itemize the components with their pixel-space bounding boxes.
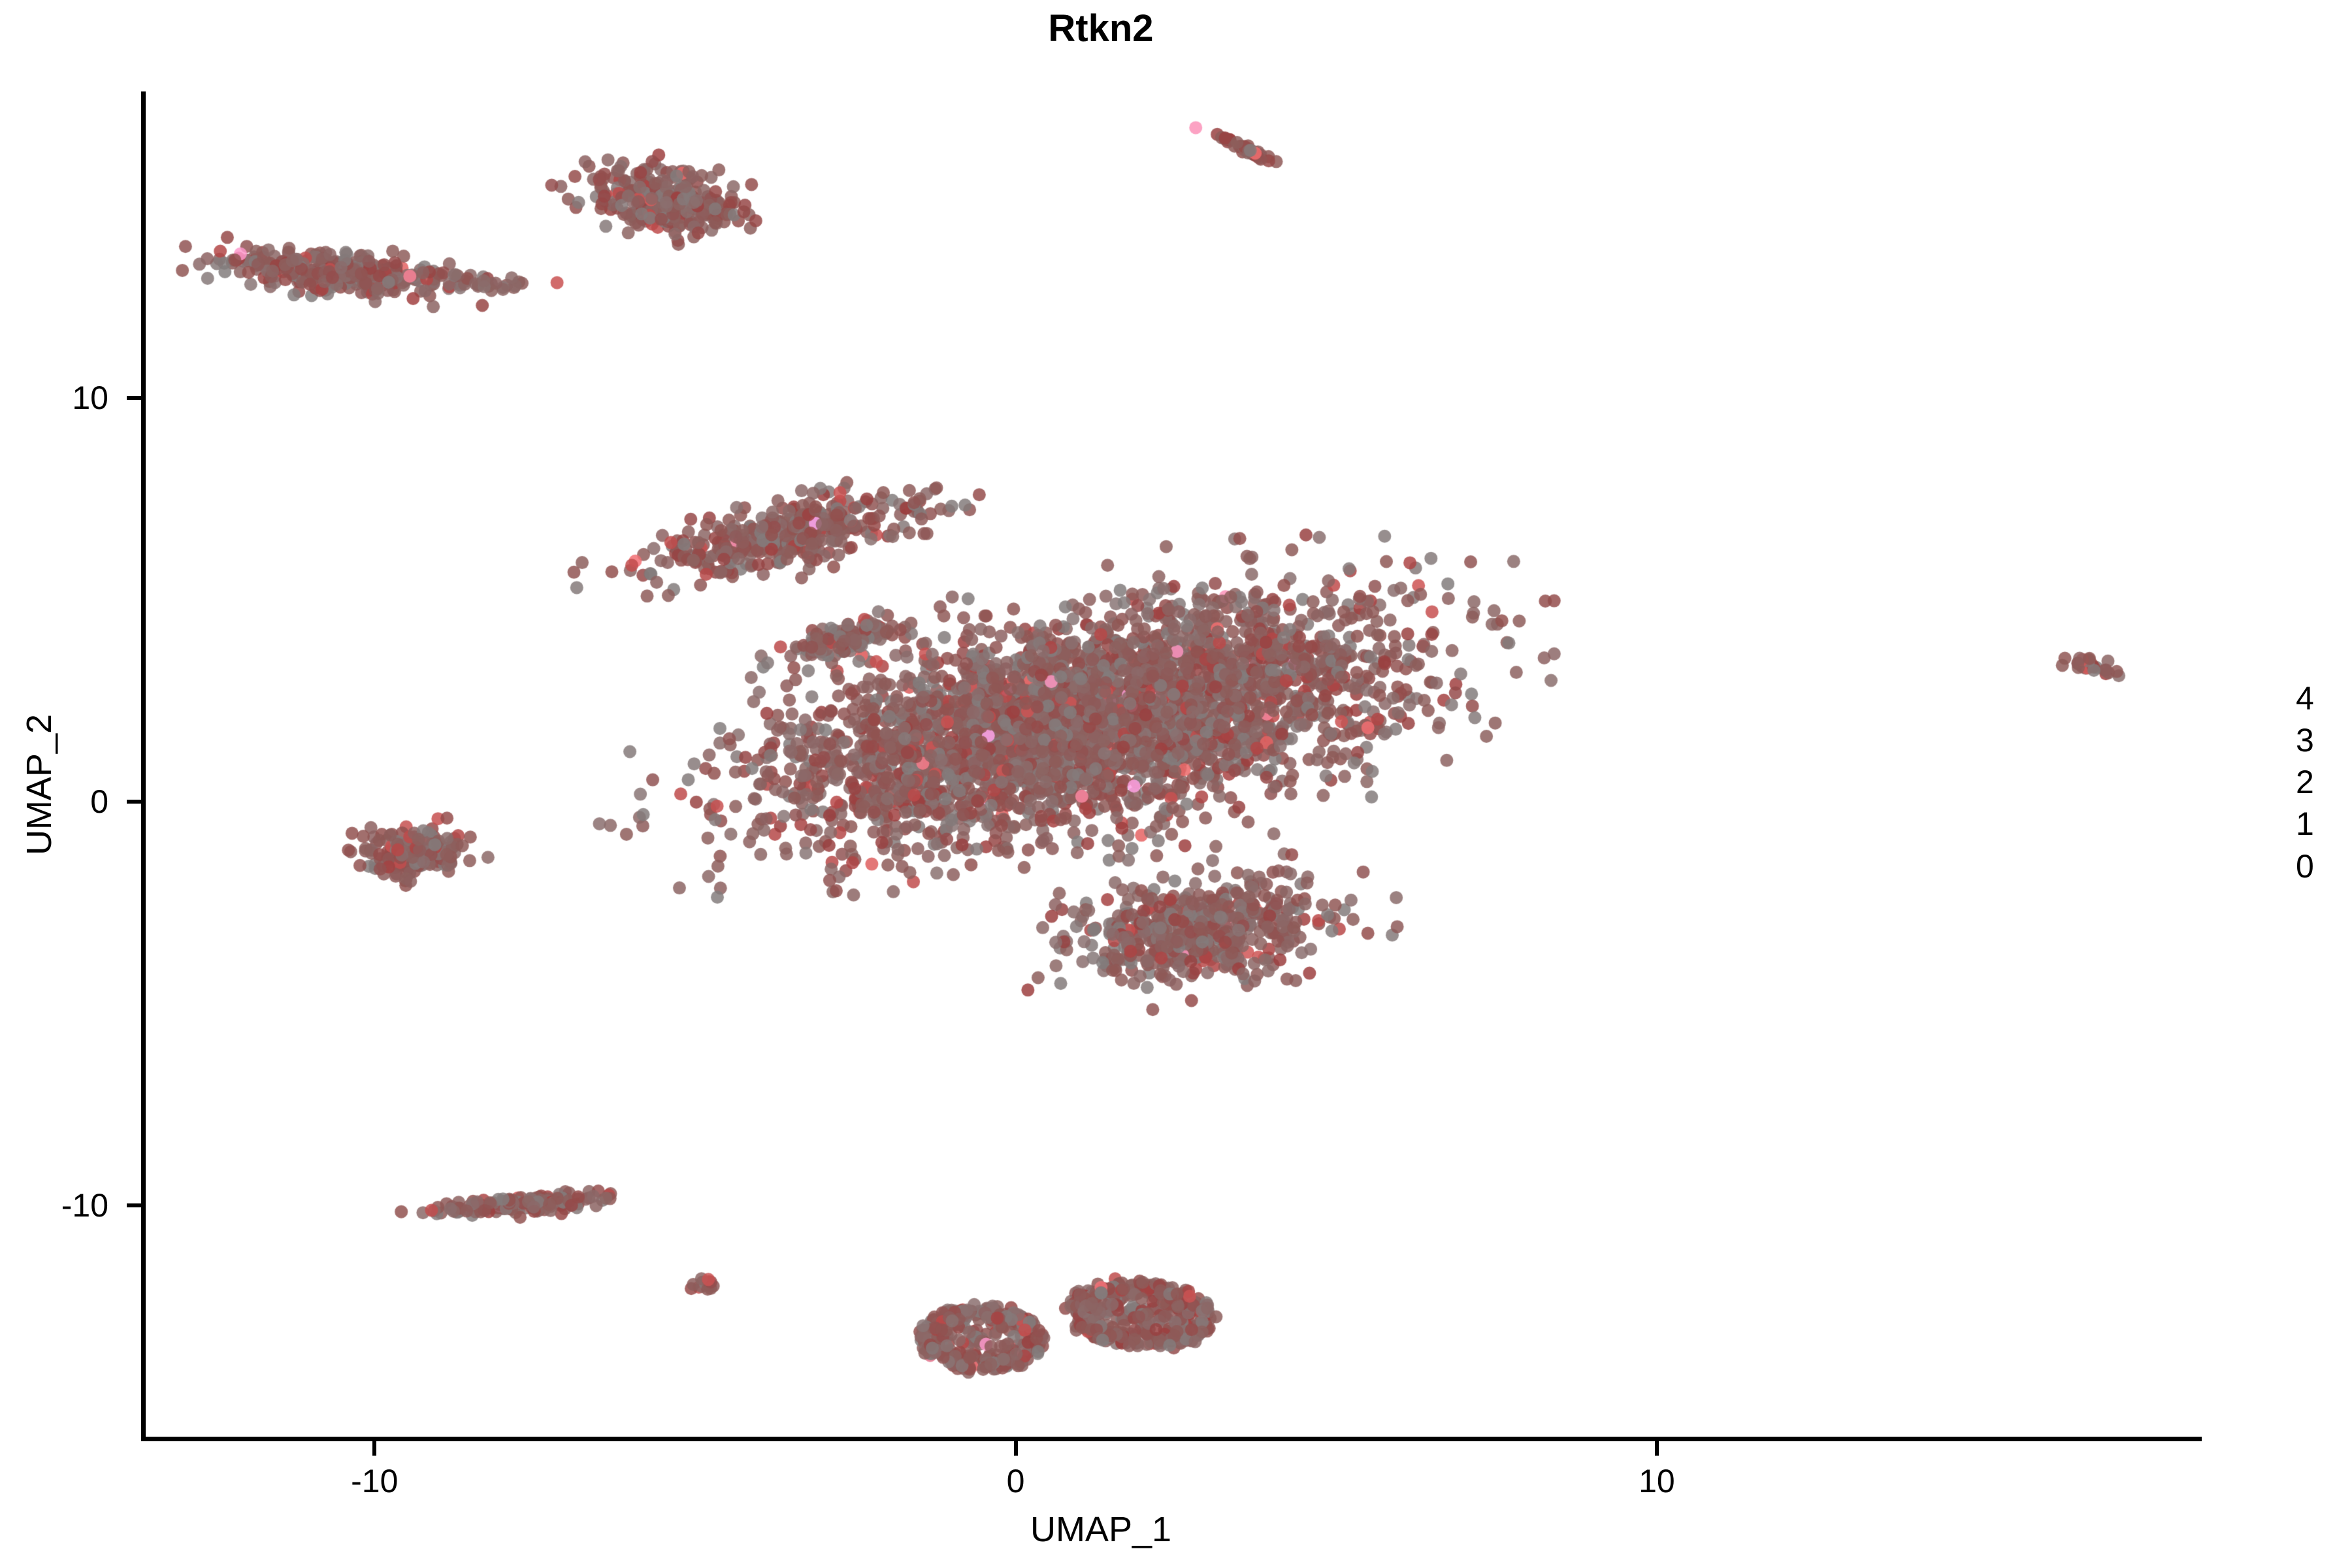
plot-panel	[144, 91, 2202, 1439]
x-tick-label: 0	[1007, 1462, 1025, 1500]
x-tick-mark	[372, 1441, 376, 1456]
x-tick-label: -10	[351, 1462, 398, 1500]
legend-tick-mark	[2273, 697, 2283, 700]
legend-tick-label: 4	[2296, 679, 2314, 717]
x-tick-mark	[1655, 1441, 1659, 1456]
y-tick-mark	[127, 1203, 141, 1207]
y-tick-label: -10	[61, 1186, 108, 1224]
y-tick-label: 10	[72, 379, 108, 417]
scatter-points-canvas	[144, 91, 2202, 1439]
x-tick-mark	[1014, 1441, 1018, 1456]
plot-title: Rtkn2	[0, 7, 2202, 50]
legend-tick-mark	[2238, 823, 2249, 825]
y-tick-mark	[127, 800, 141, 804]
legend-tick-mark	[2273, 865, 2283, 868]
y-axis-line	[141, 91, 146, 1441]
x-axis-line	[141, 1437, 2202, 1441]
legend-tick-mark	[2273, 781, 2283, 783]
x-tick-label: 10	[1639, 1462, 1675, 1500]
legend-tick-label: 2	[2296, 763, 2314, 801]
legend-tick-mark	[2238, 865, 2249, 868]
legend-tick-mark	[2273, 739, 2283, 742]
legend-tick-mark	[2273, 823, 2283, 825]
x-axis-title: UMAP_1	[0, 1509, 2202, 1550]
legend-tick-label: 0	[2296, 847, 2314, 885]
y-tick-mark	[127, 396, 141, 400]
color-legend: 01234	[2238, 673, 2336, 882]
y-tick-label: 0	[90, 783, 108, 821]
legend-tick-mark	[2238, 739, 2249, 742]
y-axis-title: UMAP_2	[19, 589, 59, 981]
legend-tick-mark	[2238, 781, 2249, 783]
legend-tick-mark	[2238, 697, 2249, 700]
legend-tick-label: 3	[2296, 721, 2314, 759]
legend-tick-label: 1	[2296, 805, 2314, 843]
umap-feature-plot: Rtkn2 -10010-10010 UMAP_1 UMAP_2 01234	[0, 0, 2352, 1568]
legend-colorbar	[2238, 673, 2283, 881]
